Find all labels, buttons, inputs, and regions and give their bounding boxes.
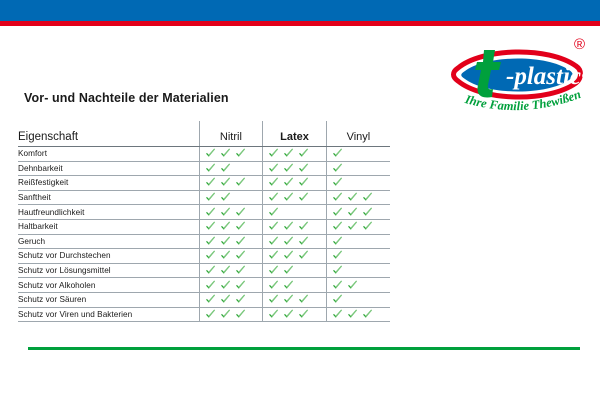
rating-cell-nitril: [199, 176, 263, 191]
column-header-nitril: Nitril: [199, 121, 263, 147]
rating-marks: [327, 264, 390, 278]
check-icon: [220, 221, 231, 232]
rating-marks: [263, 308, 326, 322]
check-icon: [362, 207, 373, 218]
check-icon: [220, 207, 231, 218]
rating-marks: [263, 191, 326, 205]
materials-comparison-table: Eigenschaft Nitril Latex Vinyl KomfortDe…: [18, 121, 390, 322]
check-icon: [268, 250, 279, 261]
row-property-label: Haltbarkeit: [18, 219, 199, 234]
rating-marks: [263, 235, 326, 249]
check-icon: [220, 250, 231, 261]
row-property-label: Reißfestigkeit: [18, 176, 199, 191]
check-icon: [332, 236, 343, 247]
rating-cell-vinyl: [326, 278, 390, 293]
rating-cell-latex: [263, 219, 327, 234]
check-icon: [205, 221, 216, 232]
rating-marks: [263, 176, 326, 190]
check-icon: [283, 265, 294, 276]
check-icon: [347, 192, 358, 203]
table-row: Schutz vor Lösungsmittel: [18, 263, 390, 278]
check-icon: [235, 148, 246, 159]
rating-cell-vinyl: [326, 234, 390, 249]
check-icon: [298, 250, 309, 261]
check-icon: [298, 221, 309, 232]
check-icon: [205, 250, 216, 261]
check-icon: [205, 148, 216, 159]
rating-marks: [200, 205, 263, 219]
rating-marks: [263, 205, 326, 219]
check-icon: [205, 192, 216, 203]
check-icon: [332, 294, 343, 305]
check-icon: [268, 265, 279, 276]
rating-cell-nitril: [199, 205, 263, 220]
check-icon: [298, 294, 309, 305]
rating-marks: [327, 176, 390, 190]
column-header-latex: Latex: [263, 121, 327, 147]
rating-cell-nitril: [199, 234, 263, 249]
check-icon: [268, 163, 279, 174]
check-icon: [205, 177, 216, 188]
table-row: Komfort: [18, 147, 390, 162]
check-icon: [220, 265, 231, 276]
check-icon: [332, 207, 343, 218]
check-icon: [298, 148, 309, 159]
check-icon: [220, 177, 231, 188]
column-header-eigenschaft: Eigenschaft: [18, 121, 199, 147]
rating-marks: [263, 162, 326, 176]
check-icon: [362, 221, 373, 232]
check-icon: [268, 177, 279, 188]
check-icon: [283, 250, 294, 261]
check-icon: [235, 221, 246, 232]
check-icon: [235, 207, 246, 218]
rating-cell-latex: [263, 190, 327, 205]
rating-cell-nitril: [199, 278, 263, 293]
rating-cell-nitril: [199, 249, 263, 264]
check-icon: [205, 236, 216, 247]
rating-marks: [200, 191, 263, 205]
rating-cell-vinyl: [326, 205, 390, 220]
table-row: Sanftheit: [18, 190, 390, 205]
check-icon: [283, 280, 294, 291]
rating-marks: [327, 162, 390, 176]
rating-marks: [200, 235, 263, 249]
rating-cell-vinyl: [326, 263, 390, 278]
rating-cell-nitril: [199, 147, 263, 162]
rating-marks: [327, 235, 390, 249]
rating-cell-nitril: [199, 161, 263, 176]
table-row: Hautfreundlichkeit: [18, 205, 390, 220]
rating-marks: [263, 147, 326, 161]
check-icon: [332, 265, 343, 276]
rating-marks: [327, 205, 390, 219]
check-icon: [283, 294, 294, 305]
column-header-vinyl: Vinyl: [326, 121, 390, 147]
rating-marks: [200, 220, 263, 234]
table-header-row: Eigenschaft Nitril Latex Vinyl: [18, 121, 390, 147]
rating-cell-latex: [263, 234, 327, 249]
rating-cell-vinyl: [326, 249, 390, 264]
check-icon: [332, 309, 343, 320]
registered-trademark-icon: ®: [574, 36, 585, 53]
check-icon: [235, 294, 246, 305]
check-icon: [220, 236, 231, 247]
rating-cell-nitril: [199, 292, 263, 307]
rating-cell-latex: [263, 278, 327, 293]
check-icon: [220, 309, 231, 320]
row-property-label: Sanftheit: [18, 190, 199, 205]
rating-cell-latex: [263, 292, 327, 307]
check-icon: [235, 236, 246, 247]
check-icon: [235, 265, 246, 276]
rating-cell-nitril: [199, 307, 263, 322]
rating-marks: [263, 249, 326, 263]
rating-marks: [263, 293, 326, 307]
rating-cell-vinyl: [326, 307, 390, 322]
check-icon: [298, 236, 309, 247]
check-icon: [347, 280, 358, 291]
rating-cell-vinyl: [326, 147, 390, 162]
check-icon: [220, 280, 231, 291]
check-icon: [283, 148, 294, 159]
table-row: Schutz vor Viren und Bakterien: [18, 307, 390, 322]
rating-marks: [327, 249, 390, 263]
check-icon: [268, 192, 279, 203]
company-logo: -plastics ® Ihre Familie Thewißen: [448, 32, 594, 116]
rating-marks: [327, 147, 390, 161]
rating-cell-latex: [263, 176, 327, 191]
rating-marks: [327, 278, 390, 292]
rating-cell-vinyl: [326, 219, 390, 234]
check-icon: [220, 294, 231, 305]
row-property-label: Geruch: [18, 234, 199, 249]
check-icon: [332, 163, 343, 174]
check-icon: [298, 163, 309, 174]
row-property-label: Hautfreundlichkeit: [18, 205, 199, 220]
check-icon: [268, 221, 279, 232]
check-icon: [362, 192, 373, 203]
row-property-label: Schutz vor Säuren: [18, 292, 199, 307]
rating-marks: [200, 308, 263, 322]
table-row: Schutz vor Alkoholen: [18, 278, 390, 293]
check-icon: [220, 148, 231, 159]
check-icon: [332, 250, 343, 261]
check-icon: [268, 294, 279, 305]
rating-marks: [200, 293, 263, 307]
check-icon: [268, 280, 279, 291]
row-property-label: Komfort: [18, 147, 199, 162]
rating-cell-nitril: [199, 263, 263, 278]
check-icon: [220, 163, 231, 174]
rating-marks: [327, 308, 390, 322]
row-property-label: Schutz vor Lösungsmittel: [18, 263, 199, 278]
check-icon: [205, 280, 216, 291]
rating-marks: [327, 293, 390, 307]
check-icon: [332, 280, 343, 291]
check-icon: [220, 192, 231, 203]
check-icon: [205, 294, 216, 305]
footer-divider: [28, 347, 580, 350]
check-icon: [205, 309, 216, 320]
rating-marks: [200, 147, 263, 161]
check-icon: [332, 221, 343, 232]
rating-cell-nitril: [199, 190, 263, 205]
page-title: Vor- und Nachteile der Materialien: [24, 91, 229, 105]
table-row: Reißfestigkeit: [18, 176, 390, 191]
rating-marks: [200, 264, 263, 278]
rating-cell-latex: [263, 147, 327, 162]
check-icon: [332, 192, 343, 203]
rating-marks: [200, 162, 263, 176]
rating-marks: [263, 278, 326, 292]
check-icon: [235, 177, 246, 188]
rating-cell-latex: [263, 307, 327, 322]
check-icon: [298, 177, 309, 188]
check-icon: [268, 207, 279, 218]
logo-wordmark: -plastics: [506, 63, 591, 90]
row-property-label: Dehnbarkeit: [18, 161, 199, 176]
check-icon: [332, 148, 343, 159]
check-icon: [362, 309, 373, 320]
table-row: Haltbarkeit: [18, 219, 390, 234]
rating-cell-nitril: [199, 219, 263, 234]
rating-marks: [327, 191, 390, 205]
check-icon: [283, 221, 294, 232]
check-icon: [283, 236, 294, 247]
check-icon: [205, 207, 216, 218]
check-icon: [283, 177, 294, 188]
check-icon: [235, 250, 246, 261]
rating-cell-vinyl: [326, 161, 390, 176]
table-row: Geruch: [18, 234, 390, 249]
rating-marks: [200, 249, 263, 263]
table-row: Dehnbarkeit: [18, 161, 390, 176]
rating-marks: [200, 176, 263, 190]
check-icon: [283, 309, 294, 320]
check-icon: [205, 163, 216, 174]
rating-cell-latex: [263, 205, 327, 220]
check-icon: [298, 192, 309, 203]
rating-cell-vinyl: [326, 190, 390, 205]
check-icon: [347, 221, 358, 232]
check-icon: [268, 309, 279, 320]
row-property-label: Schutz vor Viren und Bakterien: [18, 307, 199, 322]
check-icon: [283, 163, 294, 174]
check-icon: [283, 192, 294, 203]
row-property-label: Schutz vor Durchstechen: [18, 249, 199, 264]
check-icon: [347, 309, 358, 320]
rating-marks: [200, 278, 263, 292]
rating-marks: [263, 220, 326, 234]
table-body: KomfortDehnbarkeitReißfestigkeitSanfthei…: [18, 147, 390, 322]
check-icon: [298, 309, 309, 320]
check-icon: [268, 148, 279, 159]
rating-cell-latex: [263, 263, 327, 278]
rating-cell-latex: [263, 249, 327, 264]
check-icon: [235, 280, 246, 291]
row-property-label: Schutz vor Alkoholen: [18, 278, 199, 293]
check-icon: [235, 309, 246, 320]
check-icon: [332, 177, 343, 188]
table-row: Schutz vor Durchstechen: [18, 249, 390, 264]
rating-cell-vinyl: [326, 176, 390, 191]
check-icon: [268, 236, 279, 247]
rating-cell-latex: [263, 161, 327, 176]
table-row: Schutz vor Säuren: [18, 292, 390, 307]
header-banner-blue: [0, 0, 600, 21]
header-banner-red: [0, 21, 600, 26]
check-icon: [205, 265, 216, 276]
check-icon: [347, 207, 358, 218]
rating-marks: [327, 220, 390, 234]
rating-cell-vinyl: [326, 292, 390, 307]
rating-marks: [263, 264, 326, 278]
